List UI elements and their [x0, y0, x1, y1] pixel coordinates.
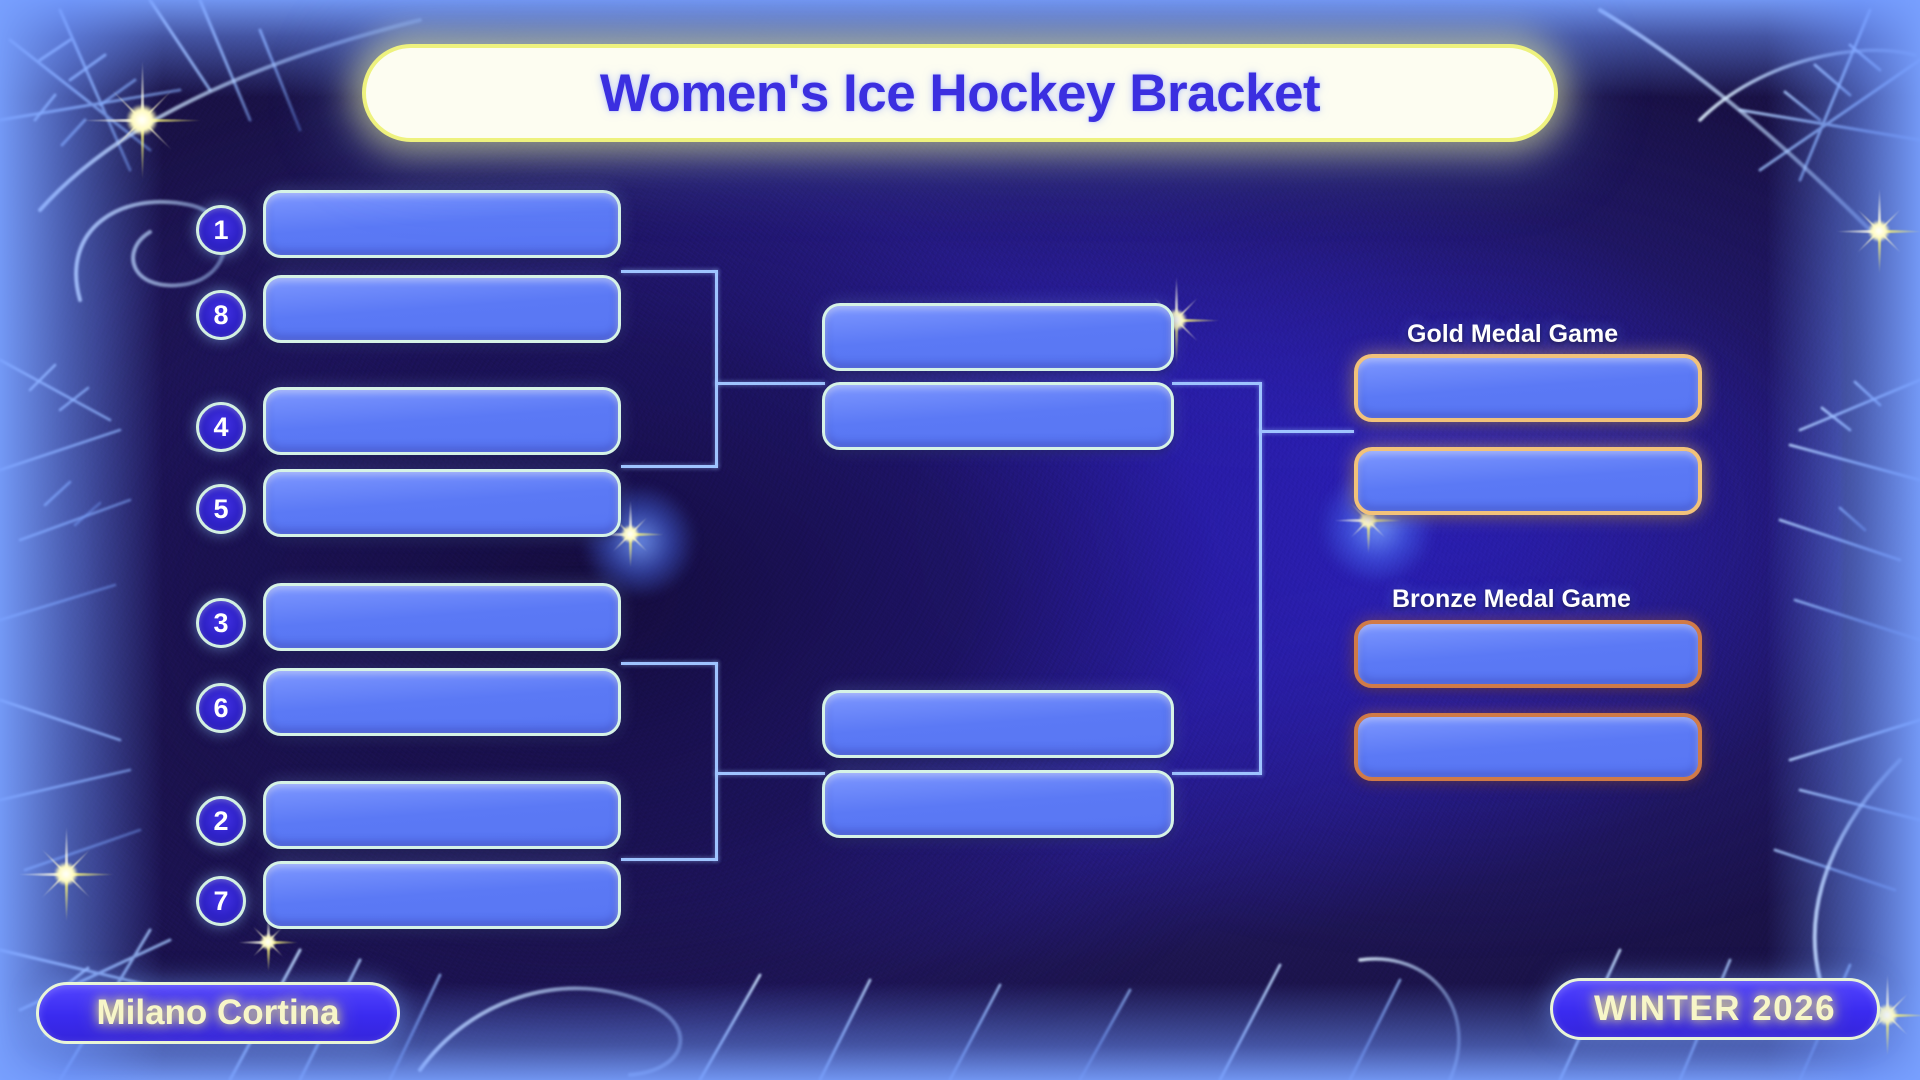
connector-r2-top [1172, 382, 1262, 385]
seed-badge-2: 2 [196, 796, 246, 846]
seed-badge-7: 7 [196, 876, 246, 926]
bracket-slot-bronze-1[interactable] [1354, 620, 1702, 688]
seed-number: 6 [213, 695, 228, 722]
connector-final-out [1259, 430, 1354, 433]
bracket-slot-r1-1[interactable] [263, 190, 621, 258]
seed-badge-6: 6 [196, 683, 246, 733]
bracket-slot-bronze-2[interactable] [1354, 713, 1702, 781]
bracket-slot-r2-2[interactable] [822, 382, 1174, 450]
seed-number: 7 [213, 888, 228, 915]
bracket-area: 1 8 4 5 3 6 2 7 [0, 0, 1920, 1080]
host-city-label: Milano Cortina [96, 993, 339, 1033]
bracket-slot-r2-1[interactable] [822, 303, 1174, 371]
bracket-slot-r1-2[interactable] [263, 275, 621, 343]
bracket-slot-r2-3[interactable] [822, 690, 1174, 758]
bracket-slot-r1-7[interactable] [263, 781, 621, 849]
bracket-slot-r1-5[interactable] [263, 583, 621, 651]
page-title: Women's Ice Hockey Bracket [362, 44, 1558, 142]
bracket-slot-r1-4[interactable] [263, 469, 621, 537]
connector-r1-m1-top [621, 270, 718, 273]
gold-medal-game-label: Gold Medal Game [1407, 320, 1618, 349]
seed-number: 5 [213, 496, 228, 523]
bracket-slot-r1-8[interactable] [263, 861, 621, 929]
connector-r1-m2-out [715, 772, 825, 775]
connector-r1-m2-top [621, 662, 718, 665]
bracket-slot-gold-2[interactable] [1354, 447, 1702, 515]
seed-badge-1: 1 [196, 205, 246, 255]
connector-r1-m1-out [715, 382, 825, 385]
seed-number: 1 [213, 217, 228, 244]
seed-badge-3: 3 [196, 598, 246, 648]
bronze-medal-game-label: Bronze Medal Game [1392, 585, 1631, 614]
games-year-label: WINTER 2026 [1594, 989, 1836, 1029]
games-year-badge: WINTER 2026 [1550, 978, 1880, 1040]
connector-r1-m1-vert [715, 270, 718, 468]
bracket-slot-r1-6[interactable] [263, 668, 621, 736]
seed-badge-4: 4 [196, 402, 246, 452]
bracket-poster: Women's Ice Hockey Bracket 1 8 4 [0, 0, 1920, 1080]
connector-r2-bottom [1172, 772, 1262, 775]
bracket-slot-r2-4[interactable] [822, 770, 1174, 838]
seed-number: 3 [213, 610, 228, 637]
seed-badge-5: 5 [196, 484, 246, 534]
seed-number: 8 [213, 302, 228, 329]
bracket-slot-gold-1[interactable] [1354, 354, 1702, 422]
page-title-text: Women's Ice Hockey Bracket [600, 63, 1320, 124]
bracket-slot-r1-3[interactable] [263, 387, 621, 455]
connector-r2-vert [1259, 382, 1262, 775]
connector-r1-m1-bottom [621, 465, 718, 468]
connector-r1-m2-vert [715, 662, 718, 861]
seed-badge-8: 8 [196, 290, 246, 340]
connector-r1-m2-bottom [621, 858, 718, 861]
host-city-badge: Milano Cortina [36, 982, 400, 1044]
seed-number: 2 [213, 808, 228, 835]
seed-number: 4 [213, 414, 228, 441]
